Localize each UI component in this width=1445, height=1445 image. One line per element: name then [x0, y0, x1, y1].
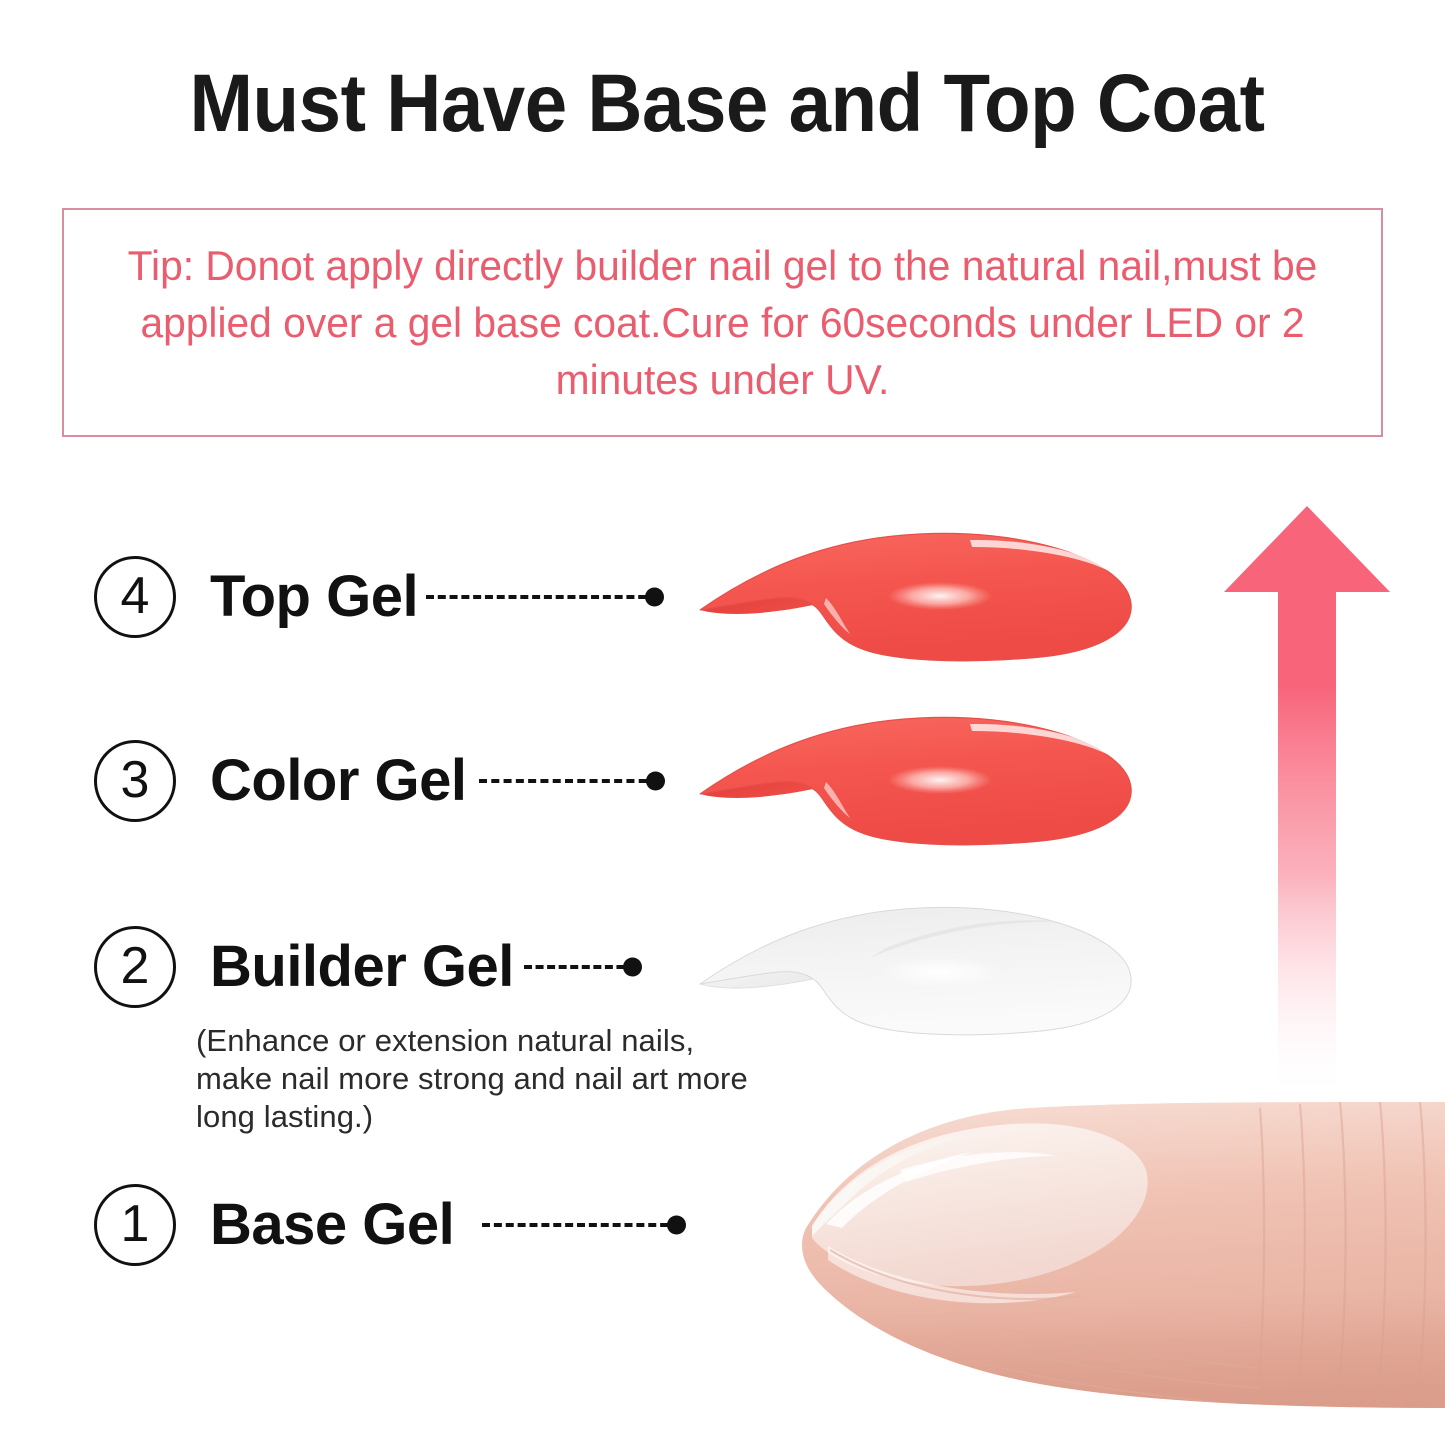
builder-gel-note: (Enhance or extension natural nails, mak…	[196, 1022, 756, 1136]
step-label-color-gel: Color Gel	[210, 752, 467, 810]
dashed-leader-line-icon-3	[479, 771, 659, 791]
leader-dot-icon-2	[623, 958, 642, 977]
dashed-leader-line-icon-2	[524, 957, 636, 977]
nail-swatch-builder-gel-icon	[690, 892, 1160, 1057]
tip-box: Tip: Donot apply directly builder nail g…	[62, 208, 1383, 437]
step-number-1: 1	[121, 1198, 150, 1250]
step-row-builder-gel: 2 Builder Gel	[0, 926, 636, 1008]
dashed-leader-line-icon-4	[426, 587, 658, 607]
numbered-circle-icon-2: 2	[94, 926, 176, 1008]
numbered-circle-icon-4: 4	[94, 556, 176, 638]
step-label-builder-gel: Builder Gel	[210, 938, 514, 996]
dashed-leader-line-icon-1	[482, 1215, 680, 1235]
leader-dash-1	[482, 1223, 680, 1227]
step-label-top-gel: Top Gel	[210, 568, 418, 626]
tip-text: Tip: Donot apply directly builder nail g…	[84, 237, 1361, 408]
step-number-3: 3	[121, 754, 150, 806]
page-title: Must Have Base and Top Coat	[109, 56, 1346, 152]
nail-swatch-color-gel-icon	[690, 702, 1160, 867]
infographic-page: Must Have Base and Top Coat Tip: Donot a…	[0, 0, 1445, 1445]
step-number-2: 2	[121, 940, 150, 992]
step-row-color-gel: 3 Color Gel	[0, 740, 659, 822]
leader-dash-4	[426, 595, 658, 599]
numbered-circle-icon-1: 1	[94, 1184, 176, 1266]
nail-gloss-highlight	[888, 766, 992, 794]
arrow-shape	[1224, 506, 1390, 1100]
step-row-top-gel: 4 Top Gel	[0, 556, 658, 638]
nail-gloss-highlight	[888, 582, 992, 610]
leader-dot-icon-3	[646, 772, 665, 791]
step-row-base-gel: 1 Base Gel	[0, 1184, 680, 1266]
upward-growth-arrow-icon	[1222, 500, 1392, 1100]
leader-dot-icon-1	[667, 1216, 686, 1235]
numbered-circle-icon-3: 3	[94, 740, 176, 822]
nail-gloss-highlight	[878, 956, 1002, 988]
step-number-4: 4	[121, 570, 150, 622]
leader-dash-3	[479, 779, 659, 783]
leader-dot-icon-4	[645, 588, 664, 607]
step-label-base-gel: Base Gel	[210, 1196, 454, 1254]
nail-swatch-top-gel-icon	[690, 518, 1160, 683]
leader-dash-2	[524, 965, 636, 969]
fingertip-photo	[700, 1078, 1445, 1445]
